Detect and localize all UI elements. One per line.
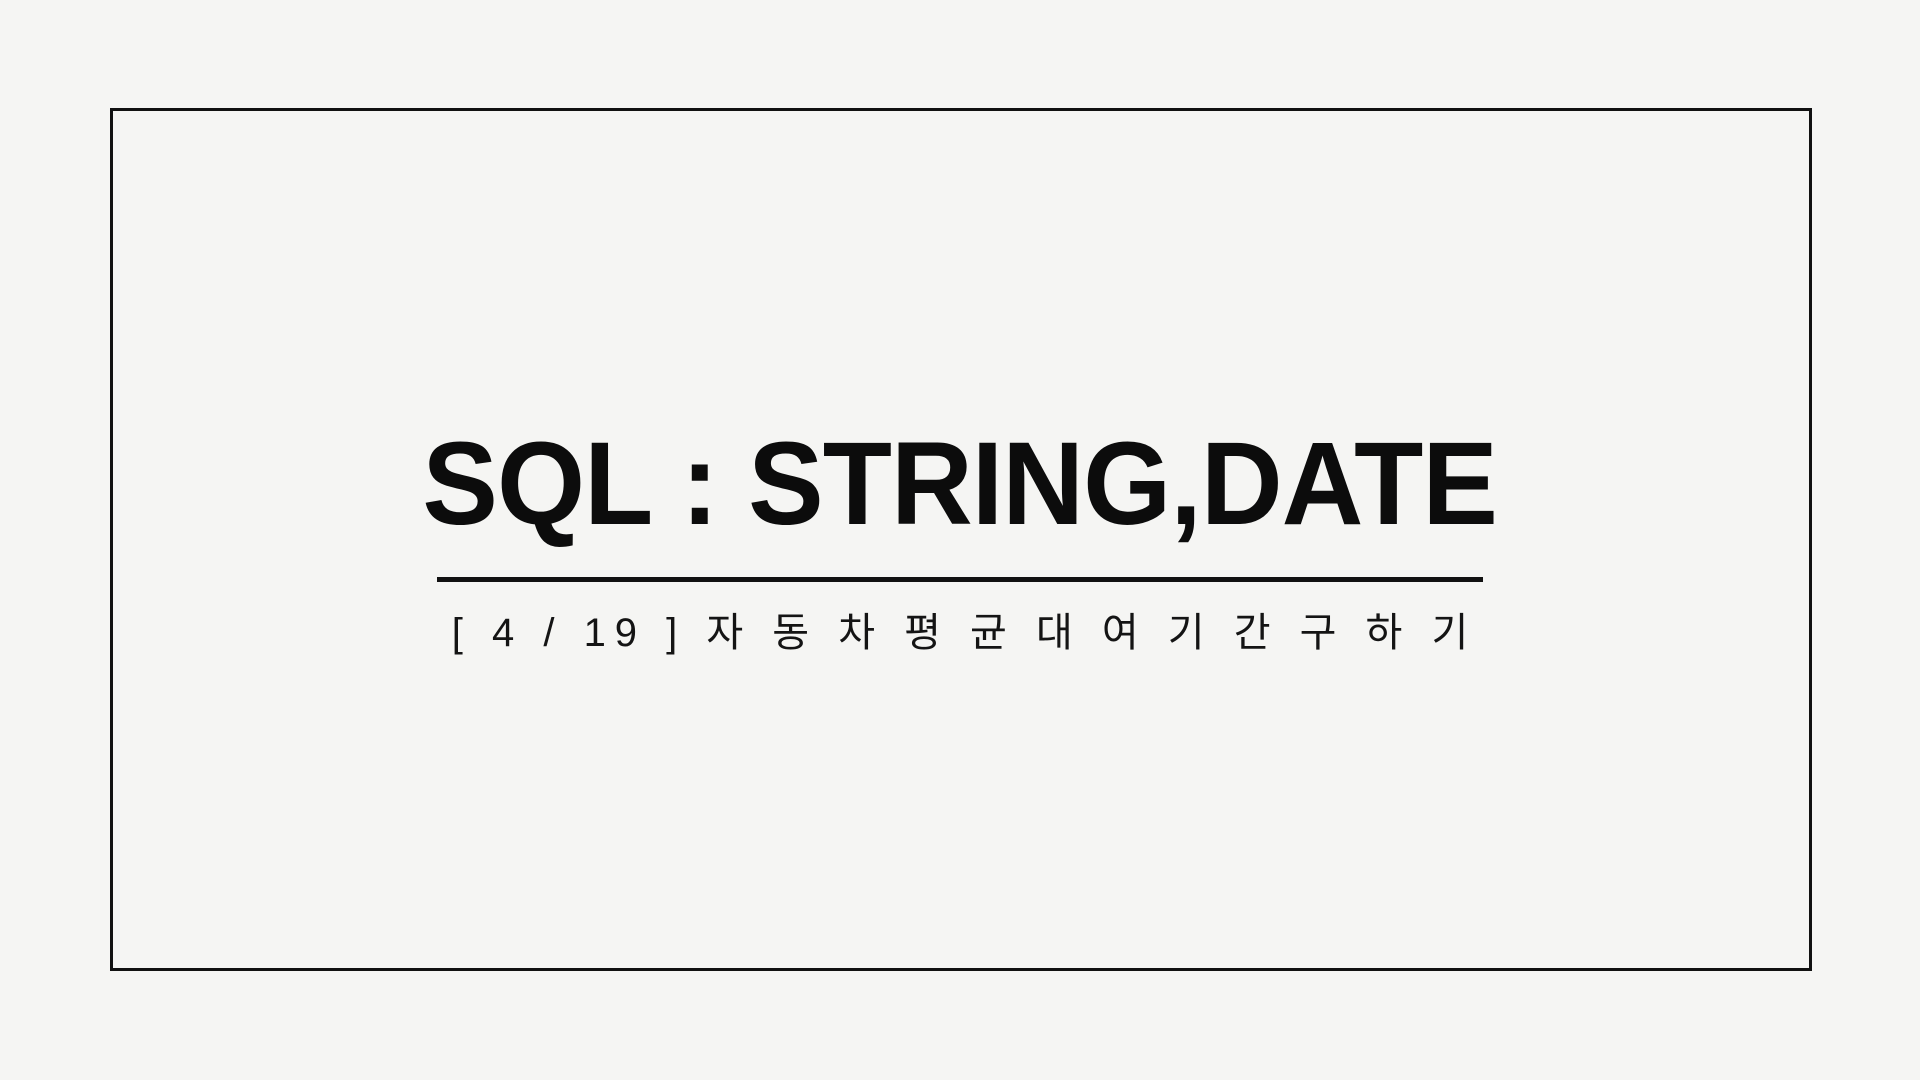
page-subtitle: [ 4 / 19 ] 자 동 차 평 균 대 여 기 간 구 하 기 bbox=[443, 610, 1478, 656]
slide-content-stack: SQL : STRING,DATE [ 4 / 19 ] 자 동 차 평 균 대… bbox=[0, 0, 1920, 1080]
slide-canvas: SQL : STRING,DATE [ 4 / 19 ] 자 동 차 평 균 대… bbox=[0, 0, 1920, 1080]
title-divider-rule bbox=[437, 577, 1483, 582]
page-title: SQL : STRING,DATE bbox=[423, 425, 1498, 543]
